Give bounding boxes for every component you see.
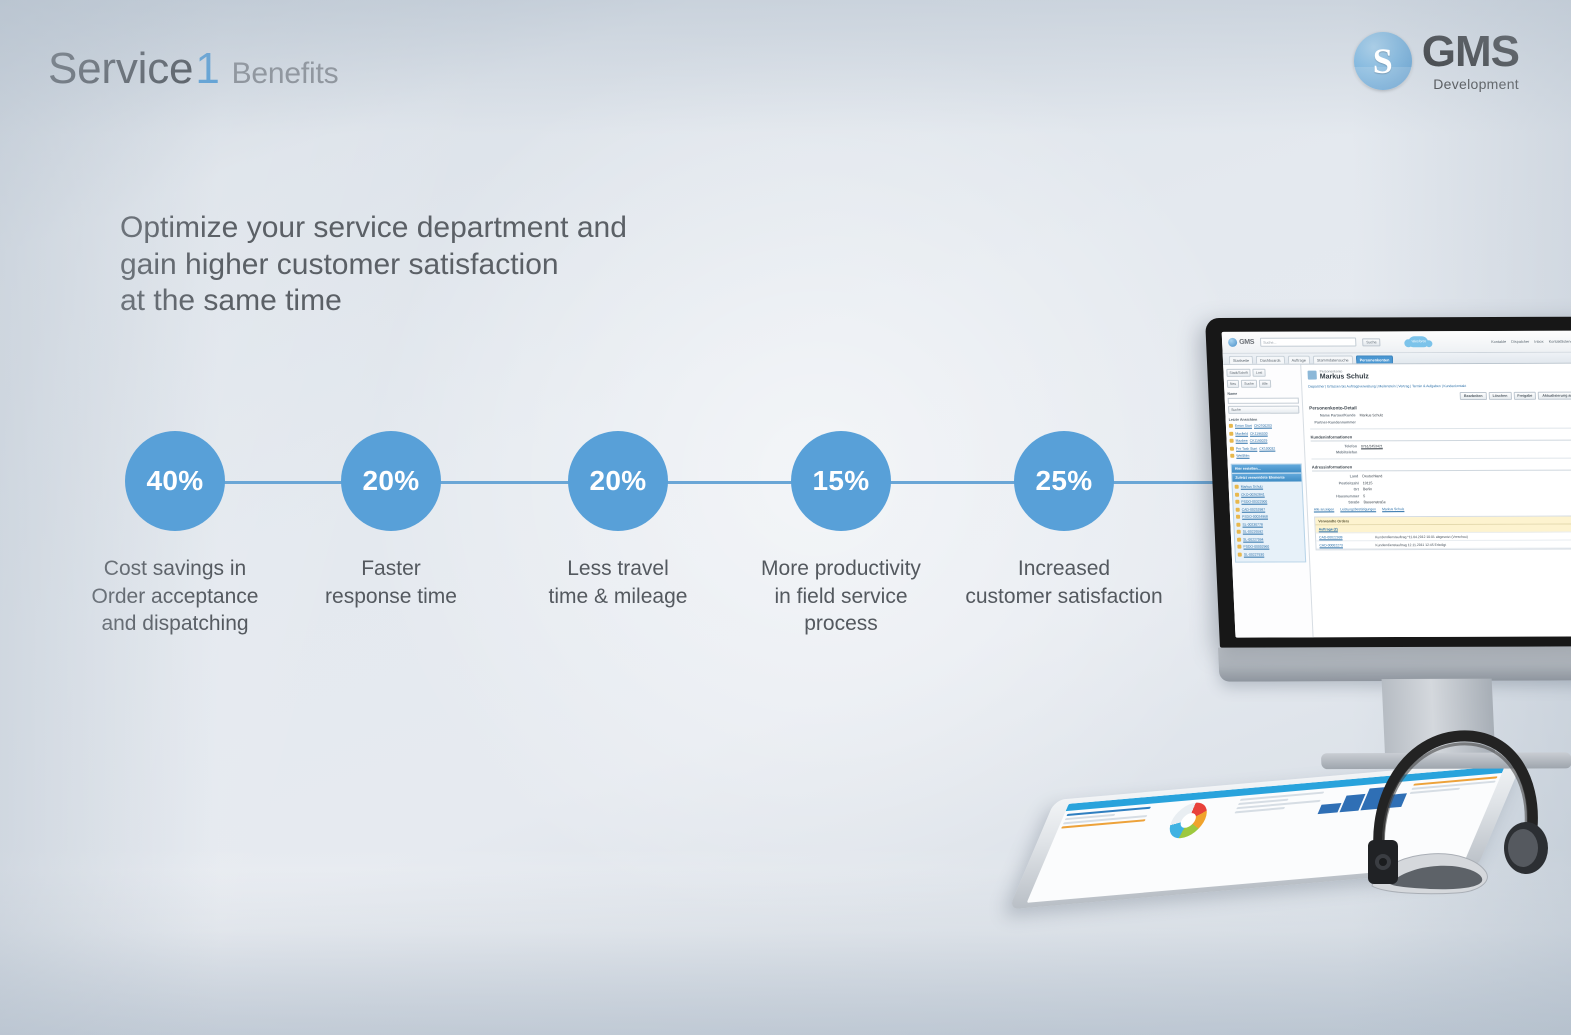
crm-search-input[interactable]: Suche... — [1260, 337, 1356, 346]
crm-field-row: Land Deutschland — [1312, 473, 1571, 478]
crm-tab-personenkonten[interactable]: Personenkonten — [1355, 355, 1393, 363]
headline-line-2: gain higher customer satisfaction — [120, 247, 627, 284]
crm-request-update-button[interactable]: Aktualisierung anfordern — [1538, 392, 1571, 400]
crm-share-button[interactable]: Freigabe — [1513, 392, 1536, 400]
crm-recent-item-ref[interactable]: CK1190029 — [1250, 439, 1268, 443]
crm-tab-startseite[interactable]: Startseite — [1229, 356, 1253, 364]
benefit-circle-1[interactable]: 40% — [125, 431, 225, 531]
benefit-circle-5[interactable]: 25% — [1014, 431, 1114, 531]
crm-cell-id[interactable]: CAD-00002273 — [1319, 543, 1371, 547]
record-icon — [1237, 545, 1241, 549]
crm-action-buttons[interactable]: Bearbeiten Löschen Freigabe Aktualisieru… — [1308, 391, 1571, 400]
benefit-caption-4: More productivity in field service proce… — [726, 555, 956, 638]
crm-divider — [1310, 427, 1571, 429]
crm-recent-item-label[interactable]: Maxbee — [1236, 439, 1248, 443]
crm-recent-item[interactable]: Pro Task Start CK100032 — [1230, 446, 1301, 450]
crm-sidebar-search-input[interactable] — [1228, 398, 1299, 404]
benefit-value-1: 40% — [147, 465, 204, 497]
record-icon — [1235, 485, 1239, 489]
donut-chart-icon — [1164, 801, 1213, 839]
crm-field-label: Postleitzahl — [1313, 481, 1359, 485]
crm-cell-desc: Kundendienstauftrag *11.04.2012 10:01 ab… — [1375, 534, 1571, 539]
crm-field-value: 5 — [1363, 494, 1365, 498]
crm-field-row: Hausnummer 5 — [1313, 493, 1571, 498]
record-icon — [1236, 507, 1240, 511]
benefit-caption-3: Less travel time & mileage — [503, 555, 733, 610]
record-icon — [1237, 530, 1241, 534]
crm-record-name: Markus Schulz — [1320, 373, 1369, 380]
headline: Optimize your service department and gai… — [120, 210, 627, 320]
benefit-caption-3-line-2: time & mileage — [503, 583, 733, 611]
crm-panel-header: Zuletzt verwendete Elemente — [1232, 474, 1301, 482]
crm-recent-item-label[interactable]: Pro Task Start — [1236, 446, 1257, 450]
benefit-caption-1-line-1: Cost savings in — [60, 555, 290, 583]
monitor-bezel: GMS Suche... Suche salesforce Kontakte D… — [1205, 317, 1571, 648]
record-icon — [1237, 537, 1241, 541]
crm-delete-button[interactable]: Löschen — [1488, 392, 1511, 400]
benefit-caption-4-line-1: More productivity — [726, 555, 956, 583]
crm-section-customer[interactable]: Kundeninformationen — [1310, 433, 1571, 441]
crm-field-label: Land — [1312, 474, 1358, 478]
crm-panel-item[interactable]: PSDO-00024968 — [1236, 514, 1301, 518]
crm-related-tab-3[interactable]: Markus Schulz — [1382, 507, 1404, 511]
crm-section-address[interactable]: Adressinformationen — [1312, 463, 1571, 471]
crm-recent-item[interactable]: Maxfield CK1196030 — [1229, 431, 1300, 435]
crm-divider — [1311, 457, 1571, 459]
crm-field-label: Partner-Kundennummer — [1310, 420, 1356, 424]
record-icon — [1230, 446, 1234, 450]
crm-find-button[interactable]: Suche — [1241, 380, 1257, 388]
record-icon — [1229, 431, 1233, 435]
crm-related-tab-1[interactable]: Alle anzeigen — [1314, 507, 1335, 511]
page-title: Service1Benefits — [48, 44, 338, 94]
crm-cell-desc: Kundendienstauftrag 12.11.2011 12:45 Erl… — [1375, 542, 1571, 547]
benefit-node-3[interactable]: 20% Less travel time & mileage — [503, 420, 733, 610]
crm-field-value: Deutschland — [1362, 474, 1382, 478]
crm-field-label: Mobiltelefon — [1311, 450, 1357, 454]
crm-search-button[interactable]: Suche — [1362, 338, 1381, 346]
headline-line-1: Optimize your service department and — [120, 210, 627, 247]
crm-go-button[interactable]: Los! — [1253, 369, 1266, 377]
crm-field-label: Straße — [1313, 500, 1359, 504]
crm-top-tab[interactable]: Kontaktlistener — [1549, 339, 1571, 343]
gms-logo: S GMS Development — [1354, 30, 1519, 91]
record-icon — [1235, 500, 1239, 504]
crm-panel-item-label[interactable]: SL-00226592 — [1243, 530, 1264, 534]
benefit-value-4: 15% — [813, 465, 870, 497]
logo-tagline: Development — [1433, 77, 1519, 91]
crm-field-row: Mobiltelefon — [1311, 449, 1571, 454]
crm-panel-item[interactable]: SL-00227094 — [1237, 537, 1302, 541]
headline-line-3: at the same time — [120, 283, 627, 320]
crm-recent-item-ref[interactable]: CK0700203 — [1254, 424, 1272, 428]
crm-recent-item-label[interactable]: Maxfield — [1235, 431, 1248, 435]
crm-recent-items-panel: Hier erstellen... Zuletzt verwendete Ele… — [1231, 464, 1307, 563]
crm-sidebar: Stadt/Schrift Los! Neu Suche Alle Name S… — [1223, 365, 1313, 638]
crm-panel-item[interactable]: SL-00230778 — [1236, 522, 1301, 526]
crm-panel-item[interactable]: SL-00226592 — [1237, 529, 1302, 533]
record-icon — [1229, 424, 1233, 428]
benefit-circle-3[interactable]: 20% — [568, 431, 668, 531]
benefit-caption-1: Cost savings in Order acceptance and dis… — [60, 555, 290, 638]
benefit-caption-2: Faster response time — [276, 555, 506, 610]
crm-related-tabs[interactable]: Alle anzeigen Leistungsbestätigungen Mar… — [1314, 506, 1571, 511]
crm-field-row: Postleitzahl 10115 — [1313, 480, 1571, 485]
crm-recent-item-ref[interactable]: CK1196030 — [1250, 431, 1268, 435]
crm-logo: GMS — [1228, 338, 1254, 347]
crm-field-row: Name Partner/Kunde Markus Schulz — [1309, 412, 1571, 417]
desktop-monitor: GMS Suche... Suche salesforce Kontakte D… — [1205, 317, 1571, 678]
crm-cell-id[interactable]: CAD-00022938 — [1319, 535, 1371, 539]
headset-device — [1360, 700, 1550, 900]
crm-new-button[interactable]: Neu — [1227, 380, 1240, 388]
crm-all-button[interactable]: Alle — [1259, 380, 1271, 388]
crm-cell-desc — [1375, 526, 1571, 531]
crm-panel-item[interactable]: PSDO-00322900 — [1235, 500, 1300, 504]
crm-sidebar-search-button[interactable]: Suche — [1228, 406, 1299, 414]
crm-field-value: Berlin — [1363, 487, 1372, 491]
crm-panel-item-label[interactable]: CKO-00262841 — [1241, 492, 1265, 496]
logo-badge-icon: S — [1354, 32, 1412, 90]
benefit-caption-4-line-3: process — [726, 610, 956, 638]
record-icon — [1235, 492, 1239, 496]
crm-panel-item[interactable]: CKO-00262841 — [1235, 492, 1300, 496]
crm-field-value: 10115 — [1363, 481, 1373, 485]
benefit-caption-5: Increased customer satisfaction — [949, 555, 1179, 610]
record-icon — [1236, 522, 1240, 526]
crm-recent-item[interactable]: Maxbee CK1190029 — [1230, 439, 1301, 443]
crm-field-value: Markus Schulz — [1359, 413, 1383, 417]
crm-top-tab[interactable]: Inbox — [1534, 339, 1543, 343]
benefit-caption-5-line-1: Increased — [949, 555, 1179, 583]
crm-top-tab[interactable]: Dispatcher — [1511, 339, 1529, 343]
benefit-caption-2-line-1: Faster — [276, 555, 506, 583]
crm-recent-item-label[interactable]: Weißfilm — [1236, 454, 1249, 458]
crm-field-value: Bassenstraße — [1363, 500, 1385, 504]
crm-field-row: Ort Berlin — [1313, 486, 1571, 491]
logo-name: GMS — [1422, 30, 1519, 74]
benefit-node-5[interactable]: 25% Increased customer satisfaction — [949, 420, 1179, 610]
benefit-circle-4[interactable]: 15% — [791, 431, 891, 531]
crm-breadcrumb[interactable]: Dispatcher | Erfassen bis Auftragsverwal… — [1308, 383, 1571, 388]
crm-recent-item-label[interactable]: Eman Start — [1235, 424, 1252, 428]
crm-application: GMS Suche... Suche salesforce Kontakte D… — [1222, 331, 1571, 638]
crm-record-header: Personenkonto Markus Schulz — [1307, 369, 1571, 381]
crm-topbar: GMS Suche... Suche salesforce Kontakte D… — [1222, 331, 1571, 354]
benefit-node-2[interactable]: 20% Faster response time — [276, 420, 506, 610]
benefit-caption-5-line-2: customer satisfaction — [949, 583, 1179, 611]
table-row[interactable]: CAD-00002273 Kundendienstauftrag 12.11.2… — [1316, 540, 1571, 549]
benefit-node-1[interactable]: 40% Cost savings in Order acceptance and… — [60, 420, 290, 638]
benefit-caption-4-line-2: in field service — [726, 583, 956, 611]
crm-field-row: Straße Bassenstraße — [1313, 499, 1571, 504]
crm-recent-item[interactable]: Weißfilm — [1230, 454, 1301, 458]
monitor-screen: GMS Suche... Suche salesforce Kontakte D… — [1222, 331, 1571, 638]
crm-detail-title: Personenkonto-Detail — [1309, 404, 1571, 410]
crm-sidebar-actions[interactable]: Neu Suche Alle — [1227, 380, 1298, 388]
record-avatar-icon — [1307, 371, 1316, 380]
benefit-circle-2[interactable]: 20% — [341, 431, 441, 531]
crm-cell-id[interactable]: Auftrage (2) — [1319, 527, 1371, 531]
benefit-caption-1-line-2: Order acceptance — [60, 583, 290, 611]
crm-field-label: Hausnummer — [1313, 494, 1359, 498]
crm-panel-search[interactable]: Hier erstellen... — [1232, 465, 1301, 473]
record-icon — [1230, 439, 1234, 443]
crm-tab-dashboards[interactable]: Dashboards — [1256, 356, 1285, 364]
benefit-caption-1-line-3: and dispatching — [60, 610, 290, 638]
crm-tab-auftrage[interactable]: Auftrage — [1287, 356, 1310, 364]
monitor-bezel-bottom — [1218, 646, 1571, 681]
crm-panel-item-label[interactable]: PSDO-00002960 — [1243, 545, 1269, 549]
benefit-node-4[interactable]: 15% More productivity in field service p… — [726, 420, 956, 638]
title-main-text: Service — [48, 44, 193, 93]
record-icon — [1230, 454, 1234, 458]
slide-canvas: Service1Benefits S GMS Development Optim… — [0, 0, 1571, 1035]
crm-recent-views-header: Letzte Ansichten — [1229, 418, 1300, 422]
title-number: 1 — [195, 44, 219, 93]
crm-panel-item-label[interactable]: SL-00230778 — [1242, 522, 1263, 526]
crm-view-dropdown[interactable]: Stadt/Schrift — [1226, 369, 1251, 377]
crm-panel-item-label[interactable]: CAD-00252987 — [1242, 507, 1266, 511]
crm-panel-item[interactable]: PSDO-00002960 — [1237, 544, 1302, 548]
crm-sidebar-search-label: Name — [1227, 392, 1298, 396]
crm-field-label: Ort — [1313, 487, 1359, 491]
crm-field-value[interactable]: 0761/2453421 — [1361, 444, 1383, 448]
crm-record-detail: Personenkonto Markus Schulz Dispatcher |… — [1301, 363, 1571, 637]
crm-top-tab[interactable]: Kontakte — [1491, 339, 1506, 343]
crm-field-label: Name Partner/Kunde — [1309, 413, 1355, 417]
crm-panel-item[interactable]: Markus Schulz — [1235, 485, 1300, 489]
salesforce-cloud-icon: salesforce — [1408, 336, 1429, 347]
benefit-caption-2-line-2: response time — [276, 583, 506, 611]
crm-panel-item[interactable]: CAD-00252987 — [1236, 507, 1301, 511]
crm-field-row: Telefon 0761/2453421 — [1311, 443, 1571, 448]
record-icon — [1236, 515, 1240, 519]
benefit-value-3: 20% — [590, 465, 647, 497]
crm-recent-item[interactable]: Eman Start CK0700203 — [1229, 424, 1300, 428]
title-subtitle: Benefits — [232, 57, 339, 90]
logo-letter-s: S — [1354, 32, 1412, 90]
crm-brand-name: GMS — [1239, 339, 1254, 346]
crm-panel-item-label[interactable]: SL-00227094 — [1243, 537, 1264, 541]
logo-wordmark: GMS Development — [1422, 30, 1519, 91]
benefit-value-5: 25% — [1036, 465, 1093, 497]
crm-panel-item-label[interactable]: PSDO-00024968 — [1242, 515, 1268, 519]
crm-main-area: Stadt/Schrift Los! Neu Suche Alle Name S… — [1223, 363, 1571, 637]
crm-panel-item-label[interactable]: Markus Schulz — [1241, 485, 1263, 489]
crm-top-tabs[interactable]: Kontakte Dispatcher Inbox Kontaktlistene… — [1491, 339, 1571, 343]
crm-field-label: Telefon — [1311, 444, 1357, 448]
record-icon — [1238, 552, 1242, 556]
crm-view-selector[interactable]: Stadt/Schrift Los! — [1226, 369, 1297, 377]
benefit-value-2: 20% — [363, 465, 420, 497]
crm-related-tab-2[interactable]: Leistungsbestätigungen — [1340, 507, 1376, 511]
crm-related-orders-table: Verwandte Orders Auftrage (2) CAD-000229… — [1314, 515, 1571, 550]
crm-edit-button[interactable]: Bearbeiten — [1460, 392, 1487, 400]
crm-panel-item-label[interactable]: SL-00227930 — [1244, 552, 1265, 556]
benefit-caption-3-line-1: Less travel — [503, 555, 733, 583]
crm-field-row: Partner-Kundennummer — [1310, 419, 1571, 424]
headset-icon — [1360, 700, 1550, 900]
crm-tab-stammdatensuche[interactable]: Stammdatensuche — [1313, 355, 1353, 363]
crm-recent-item-ref[interactable]: CK100032 — [1259, 446, 1275, 450]
crm-panel-item-label[interactable]: PSDO-00322900 — [1241, 500, 1267, 504]
crm-logo-icon — [1228, 338, 1237, 347]
crm-panel-item[interactable]: SL-00227930 — [1238, 552, 1303, 556]
